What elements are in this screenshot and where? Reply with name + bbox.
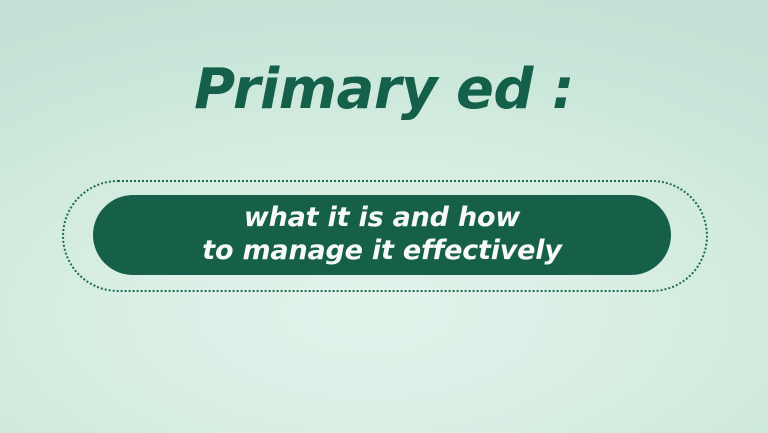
subtitle-line-2: to manage it effectively: [202, 235, 562, 268]
subtitle-line-1: what it is and how: [244, 202, 520, 235]
slide-canvas: Primary ed : what it is and how to manag…: [0, 0, 768, 433]
subtitle-pill: what it is and how to manage it effectiv…: [93, 195, 671, 275]
title-container: Primary ed :: [0, 62, 768, 118]
page-title: Primary ed :: [194, 62, 574, 118]
